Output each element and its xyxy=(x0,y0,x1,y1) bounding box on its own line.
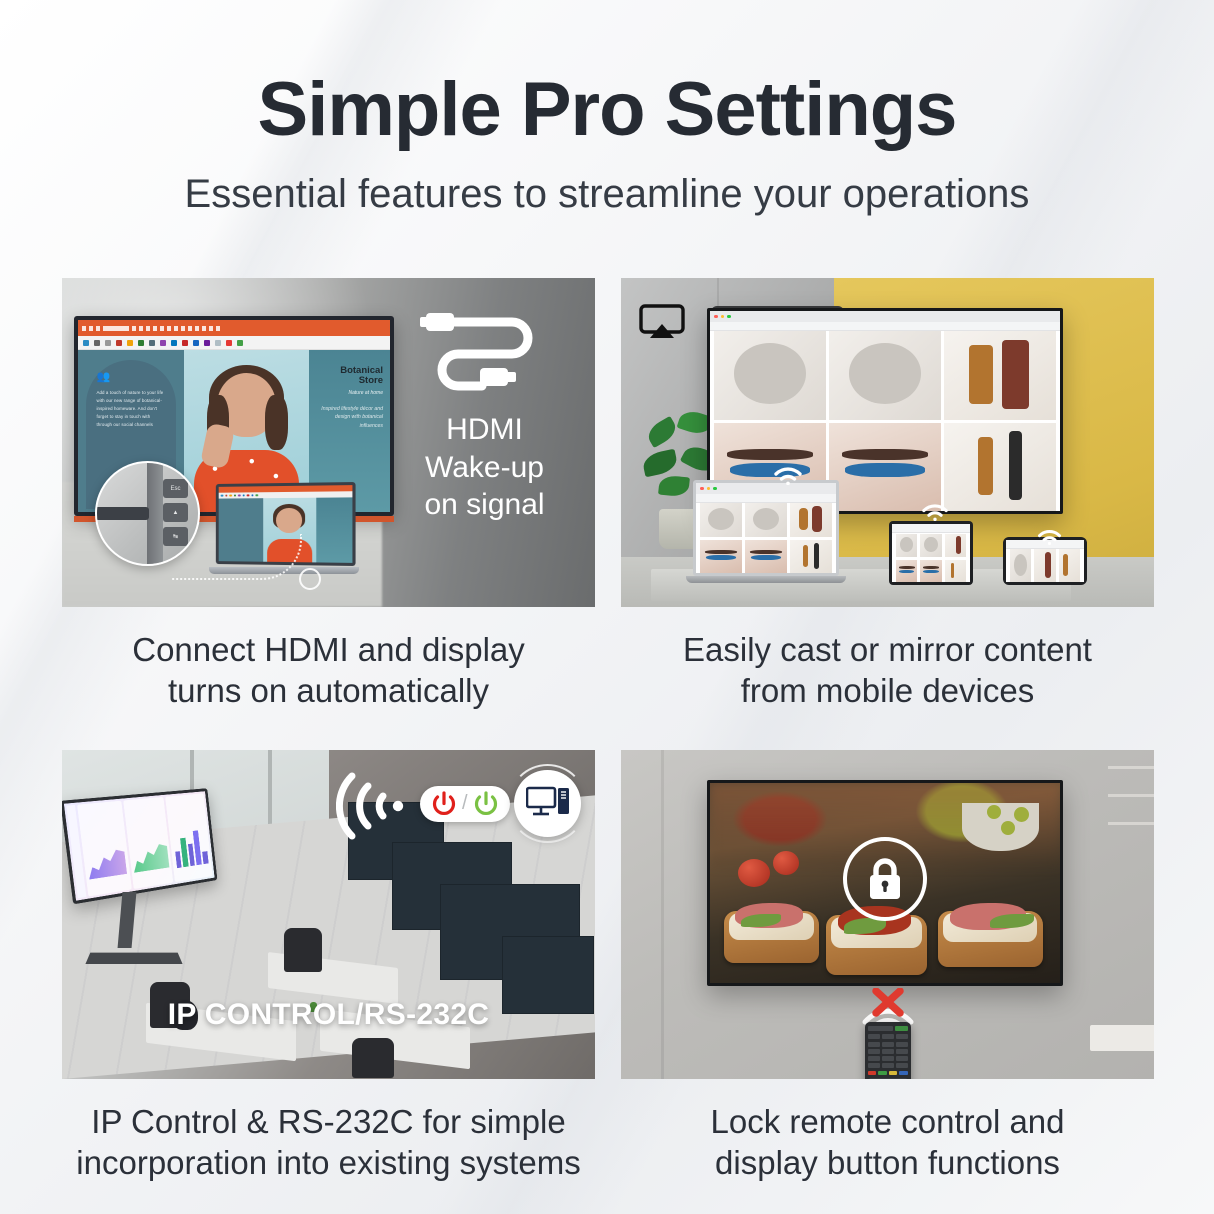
brand-tagline: Nature at home xyxy=(316,390,383,396)
feature-grid: 👥 Add a touch of nature to your life wit… xyxy=(62,278,1154,1183)
browser-titlebar xyxy=(696,483,836,494)
remote-control[interactable] xyxy=(865,1022,911,1079)
power-off-icon xyxy=(431,791,457,817)
people-icon: 👥 xyxy=(96,372,165,383)
caption-ipcontrol-line1: IP Control & RS-232C for simple xyxy=(62,1101,595,1142)
office-chair xyxy=(352,1038,394,1078)
food-content-image xyxy=(710,783,1060,983)
power-on-icon xyxy=(473,791,499,817)
key-esc: Esc xyxy=(163,479,188,498)
feature-cell-lock: Lock remote control and display button f… xyxy=(621,750,1154,1184)
page-title: Simple Pro Settings xyxy=(0,70,1214,150)
person-hair-right xyxy=(265,395,287,450)
photo-gallery xyxy=(700,503,832,573)
panel-ip-control: / xyxy=(62,750,595,1079)
laptop-side-edge xyxy=(147,463,163,564)
wifi-signal-icon xyxy=(336,768,412,849)
hdmi-plug-connected xyxy=(95,507,149,520)
hdmi-label-line2: Wake-up xyxy=(392,449,577,487)
laptop-base xyxy=(686,576,846,583)
browser-titlebar xyxy=(710,311,1060,322)
page-header: Simple Pro Settings Essential features t… xyxy=(0,70,1214,216)
lock-icon xyxy=(865,857,905,901)
caption-ipcontrol-line2: incorporation into existing systems xyxy=(62,1142,595,1183)
wall-seam xyxy=(661,750,664,1079)
dashboard-chart-card xyxy=(123,796,174,888)
slide-body-text: Add a touch of nature to your life with … xyxy=(96,389,165,430)
photo-gallery xyxy=(896,534,966,582)
wall-shelf xyxy=(1108,794,1154,797)
remote-function-row xyxy=(868,1034,908,1039)
brand-title-line2: Store xyxy=(316,376,383,386)
gallery-photo xyxy=(829,423,941,512)
caption-ipcontrol: IP Control & RS-232C for simple incorpor… xyxy=(62,1101,595,1184)
tablet-device xyxy=(889,521,973,585)
wall-shelf xyxy=(1108,822,1154,825)
caption-hdmi-line1: Connect HDMI and display xyxy=(62,629,595,670)
office-chair xyxy=(284,928,322,972)
caption-lock: Lock remote control and display button f… xyxy=(621,1101,1154,1184)
remote-top-row xyxy=(868,1026,908,1031)
gallery-photo xyxy=(829,331,941,420)
key-arrow: ▲ xyxy=(163,503,188,522)
panel-lock-remote xyxy=(621,750,1154,1079)
dashboard-chart-card xyxy=(165,793,212,882)
tablet-address-bar[interactable] xyxy=(892,524,970,533)
desktop-pc-icon xyxy=(526,786,570,820)
laptop-lid xyxy=(693,480,839,576)
caption-chromecast-line2: from mobile devices xyxy=(621,670,1154,711)
remote-color-buttons xyxy=(868,1071,908,1075)
caption-lock-line1: Lock remote control and xyxy=(621,1101,1154,1142)
photo-gallery xyxy=(1010,549,1080,582)
power-state-badge: / xyxy=(420,786,510,822)
infographic-page: Simple Pro Settings Essential features t… xyxy=(0,0,1214,1214)
hdmi-cable-icon xyxy=(420,304,550,396)
display-foot xyxy=(85,952,182,963)
lock-overlay xyxy=(843,837,927,921)
hdmi-overlay: HDMI Wake-up on signal xyxy=(392,304,577,524)
laptop-browser xyxy=(696,483,836,573)
gallery-photo xyxy=(944,331,1056,420)
browser-address-bar[interactable] xyxy=(696,494,836,503)
counter-surface xyxy=(1090,1025,1154,1051)
feature-cell-ipcontrol: / xyxy=(62,750,595,1184)
panel-hdmi-wakeup: 👥 Add a touch of nature to your life wit… xyxy=(62,278,595,607)
app-ribbon xyxy=(78,320,390,336)
feature-cell-chromecast: Chromecast built-in xyxy=(621,278,1154,712)
gallery-photo xyxy=(944,423,1056,512)
wall-shelf xyxy=(1108,766,1154,769)
callout-anchor-circle xyxy=(299,568,321,590)
airplay-icon xyxy=(639,304,685,340)
caption-hdmi: Connect HDMI and display turns on automa… xyxy=(62,629,595,712)
hdmi-label-line1: HDMI xyxy=(392,411,577,449)
gallery-photo xyxy=(714,331,826,420)
wifi-signal-icon xyxy=(921,502,949,521)
page-subtitle: Essential features to streamline your op… xyxy=(0,172,1214,216)
caption-lock-line2: display button functions xyxy=(621,1142,1154,1183)
dashboard-chart-card xyxy=(77,800,131,896)
app-toolbar xyxy=(78,336,390,350)
callout-dotted-line xyxy=(172,534,302,580)
phone-screen xyxy=(1006,540,1084,582)
ip-control-label: IP CONTROL/RS-232C xyxy=(62,998,595,1032)
tablet-screen xyxy=(892,524,970,582)
caption-chromecast: Easily cast or mirror content from mobil… xyxy=(621,629,1154,712)
caption-chromecast-line1: Easily cast or mirror content xyxy=(621,629,1154,670)
laptop-device xyxy=(693,480,845,583)
wifi-signal-icon xyxy=(1037,528,1062,545)
browser-address-bar[interactable] xyxy=(710,322,1060,331)
dashboard-screen xyxy=(64,791,215,900)
wall-display-lock xyxy=(707,780,1063,986)
pc-badge xyxy=(514,770,581,837)
wifi-signal-icon xyxy=(773,465,803,485)
hdmi-label-line3: on signal xyxy=(392,486,577,524)
brand-body-text: Inspired lifestyle décor and design with… xyxy=(316,405,383,430)
feature-cell-hdmi: 👥 Add a touch of nature to your life wit… xyxy=(62,278,595,712)
caption-hdmi-line2: turns on automatically xyxy=(62,670,595,711)
remote-keypad xyxy=(868,1042,908,1068)
panel-chromecast: Chromecast built-in xyxy=(621,278,1154,607)
separator-slash: / xyxy=(462,792,468,815)
remote-dpad[interactable] xyxy=(868,1078,908,1079)
